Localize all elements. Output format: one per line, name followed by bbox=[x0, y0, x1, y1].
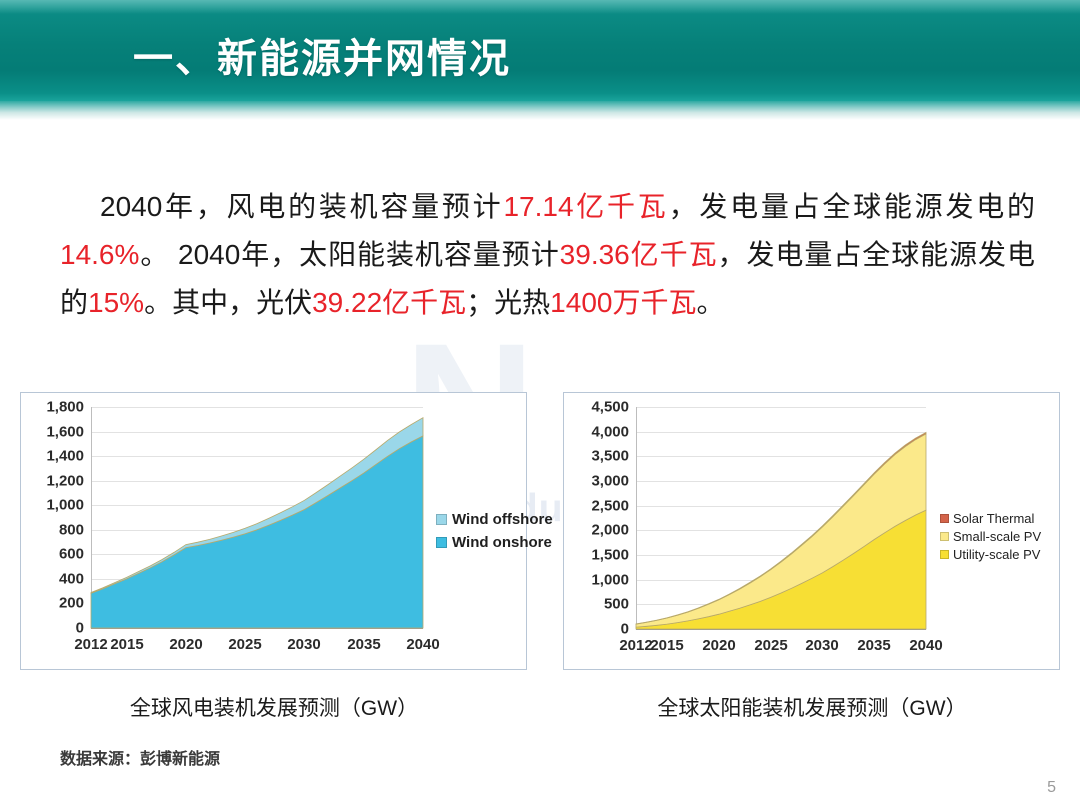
legend-item-small-scale-pv[interactable]: Small-scale PV bbox=[940, 529, 1041, 544]
slide: 一、新能源并网情况 N www.piudunyun.com 2040年，风电的装… bbox=[0, 0, 1080, 810]
legend-item-utility-scale-pv[interactable]: Utility-scale PV bbox=[940, 547, 1041, 562]
legend-swatch-icon bbox=[436, 537, 447, 548]
legend-label: Solar Thermal bbox=[953, 511, 1034, 526]
legend-label: Utility-scale PV bbox=[953, 547, 1040, 562]
paragraph-text: ；光热 bbox=[466, 287, 550, 318]
header-band-fade bbox=[0, 101, 1080, 120]
chart-wind-canvas: 02004006008001,0001,2001,4001,6001,80020… bbox=[21, 393, 526, 669]
chart-solar-canvas: 05001,0001,5002,0002,5003,0003,5004,0004… bbox=[564, 393, 1059, 669]
legend-swatch-icon bbox=[940, 532, 949, 541]
caption-solar-chart: 全球太阳能装机发展预测（GW） bbox=[657, 692, 966, 722]
highlighted-figure: 14.6% bbox=[60, 239, 139, 270]
legend-item-wind-onshore[interactable]: Wind onshore bbox=[436, 534, 553, 551]
highlighted-figure: 15% bbox=[88, 287, 144, 318]
body-paragraph: 2040年，风电的装机容量预计17.14亿千瓦，发电量占全球能源发电的14.6%… bbox=[60, 183, 1035, 327]
legend-swatch-icon bbox=[940, 550, 949, 559]
legend-label: Small-scale PV bbox=[953, 529, 1041, 544]
chart-legend: Solar ThermalSmall-scale PVUtility-scale… bbox=[940, 511, 1041, 565]
highlighted-figure: 39.22亿千瓦 bbox=[312, 287, 466, 318]
highlighted-figure: 17.14亿千瓦 bbox=[503, 191, 668, 222]
chart-legend: Wind offshoreWind onshore bbox=[436, 511, 553, 557]
legend-item-wind-offshore[interactable]: Wind offshore bbox=[436, 511, 553, 528]
legend-item-solar-thermal[interactable]: Solar Thermal bbox=[940, 511, 1041, 526]
highlighted-figure: 1400万千瓦 bbox=[550, 287, 696, 318]
highlighted-figure: 39.36亿千瓦 bbox=[560, 239, 718, 270]
paragraph-text: 。 2040年，太阳能装机容量预计 bbox=[139, 239, 559, 270]
legend-label: Wind onshore bbox=[452, 534, 552, 551]
chart-solar-panel: 05001,0001,5002,0002,5003,0003,5004,0004… bbox=[563, 392, 1060, 670]
page-number: 5 bbox=[1047, 779, 1056, 797]
paragraph-text: 。 bbox=[696, 287, 724, 318]
source-note: 数据来源：彭博新能源 bbox=[60, 745, 220, 769]
page-title: 一、新能源并网情况 bbox=[133, 36, 511, 82]
legend-label: Wind offshore bbox=[452, 511, 553, 528]
chart-wind-panel: 02004006008001,0001,2001,4001,6001,80020… bbox=[20, 392, 527, 670]
caption-wind-chart: 全球风电装机发展预测（GW） bbox=[130, 692, 418, 722]
legend-swatch-icon bbox=[940, 514, 949, 523]
legend-swatch-icon bbox=[436, 514, 447, 525]
paragraph-text: ，发电量占全球能源发电的 bbox=[669, 191, 1035, 222]
paragraph-text: 。其中，光伏 bbox=[144, 287, 312, 318]
paragraph-text: 2040年，风电的装机容量预计 bbox=[100, 191, 503, 222]
